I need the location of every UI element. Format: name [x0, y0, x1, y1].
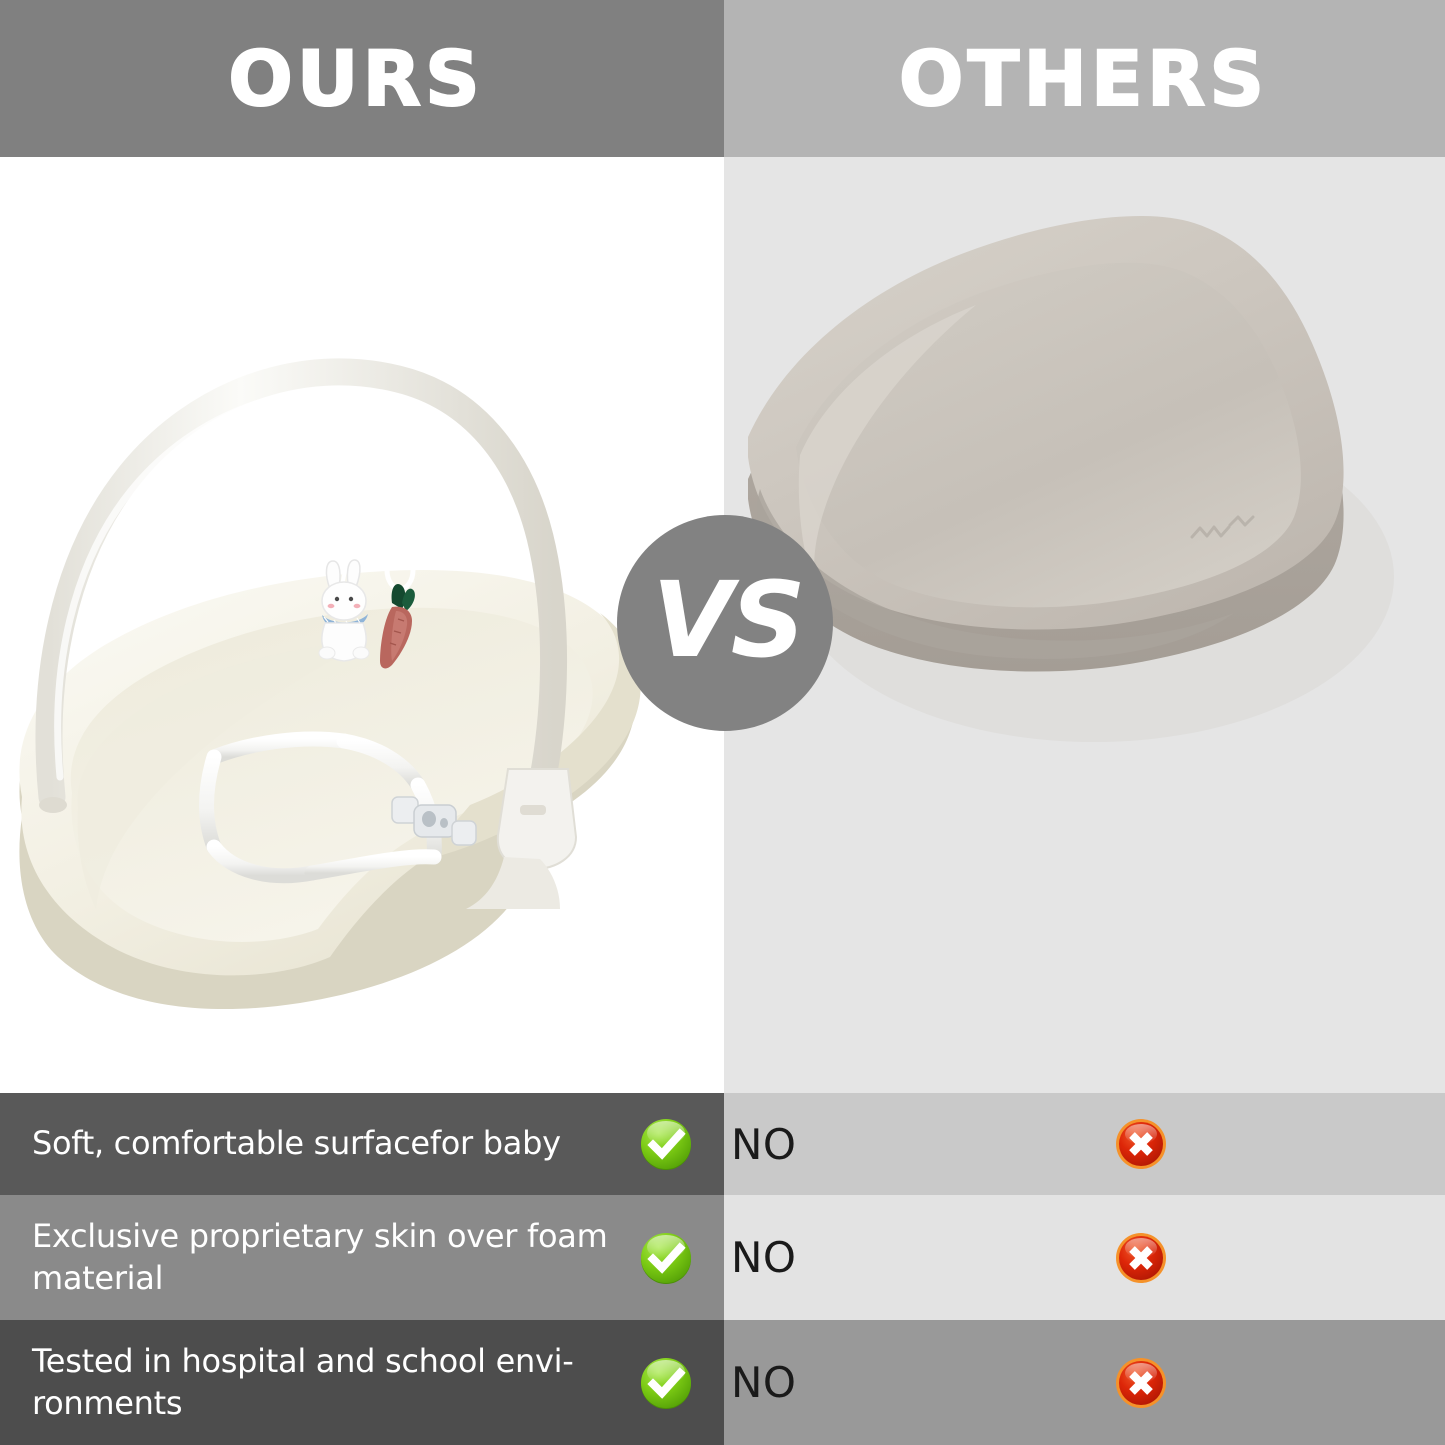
table-cell-ours: Soft, comfortable surfacefor baby: [0, 1093, 724, 1195]
table-cell-others: NO: [724, 1093, 1445, 1195]
header-title-ours: OURS: [228, 41, 484, 117]
hero-section: VS: [0, 157, 1445, 1093]
header-cell-ours: OURS: [0, 0, 724, 157]
red-cross-icon: [1101, 1355, 1181, 1411]
table-cell-ours: Exclusive proprietary skin over foam mat…: [0, 1195, 724, 1320]
table-cell-others: NO: [724, 1320, 1445, 1445]
others-value: NO: [724, 1120, 1101, 1169]
comparison-infographic: OURS OTHERS: [0, 0, 1445, 1445]
table-cell-others: NO: [724, 1195, 1445, 1320]
feature-label: Exclusive proprietary skin over foam mat…: [32, 1216, 626, 1299]
others-value: NO: [724, 1233, 1101, 1282]
green-check-icon: [626, 1116, 706, 1172]
others-value: NO: [724, 1358, 1101, 1407]
bunny-plush-toy: [319, 534, 369, 661]
header-bar: OURS OTHERS: [0, 0, 1445, 157]
vs-badge: VS: [617, 515, 833, 731]
green-check-icon: [626, 1355, 706, 1411]
header-title-others: OTHERS: [899, 41, 1268, 117]
vs-label: VS: [652, 568, 803, 672]
ours-product-image: [0, 157, 724, 1093]
red-cross-icon: [1101, 1230, 1181, 1286]
red-cross-icon: [1101, 1116, 1181, 1172]
header-cell-others: OTHERS: [724, 0, 1445, 157]
table-cell-ours: Tested in hospital and school envi-ronme…: [0, 1320, 724, 1445]
table-row: Soft, comfortable surfacefor baby: [0, 1093, 1445, 1195]
comparison-table: Soft, comfortable surfacefor baby: [0, 1093, 1445, 1445]
table-row: Tested in hospital and school envi-ronme…: [0, 1320, 1445, 1445]
feature-label: Tested in hospital and school envi-ronme…: [32, 1341, 626, 1424]
table-row: Exclusive proprietary skin over foam mat…: [0, 1195, 1445, 1320]
feature-label: Soft, comfortable surfacefor baby: [32, 1123, 626, 1165]
hero-left-panel: [0, 157, 724, 1093]
green-check-icon: [626, 1230, 706, 1286]
